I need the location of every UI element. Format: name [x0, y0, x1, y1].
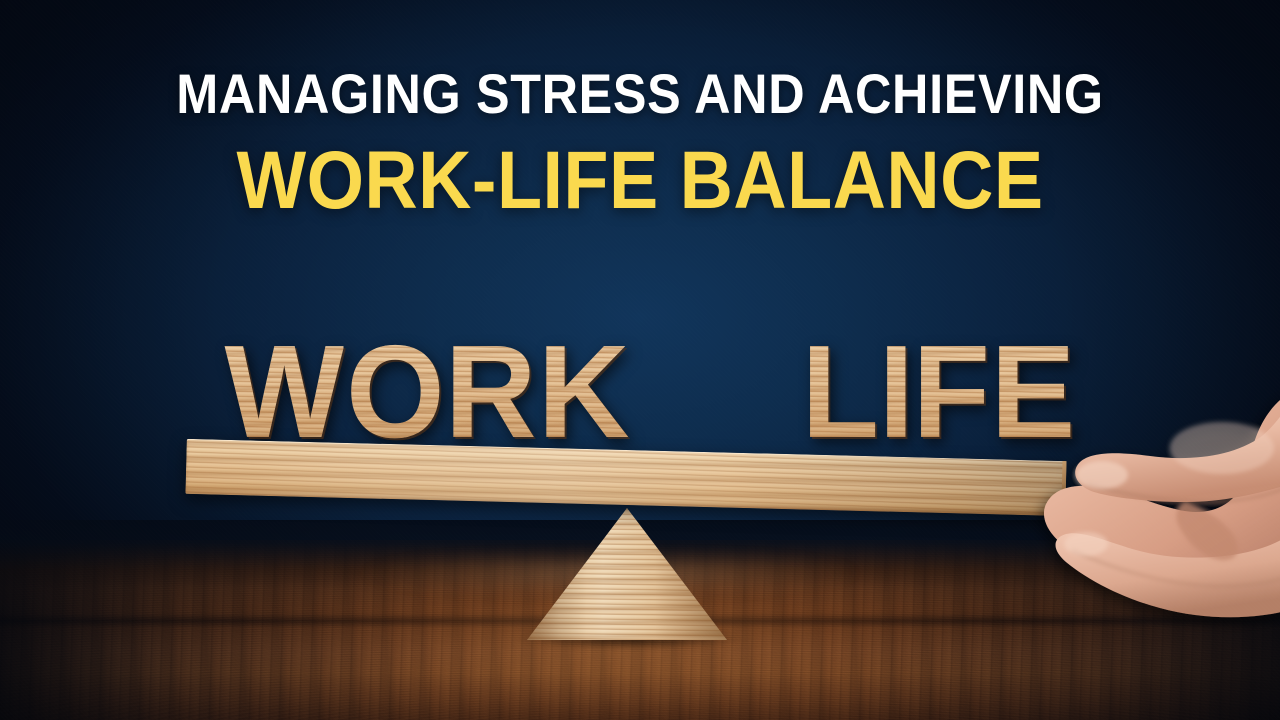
banner-canvas: MANAGING STRESS AND ACHIEVING WORK-LIFE …	[0, 0, 1280, 720]
headline-line-2: WORK-LIFE BALANCE	[64, 140, 1216, 222]
wooden-letter-i: I	[878, 326, 912, 458]
wooden-letter-l: L	[802, 326, 878, 458]
wooden-letter-f: F	[913, 326, 989, 458]
headline-line-1: MANAGING STRESS AND ACHIEVING	[64, 66, 1216, 122]
hand	[990, 352, 1280, 652]
headline: MANAGING STRESS AND ACHIEVING WORK-LIFE …	[0, 66, 1280, 222]
